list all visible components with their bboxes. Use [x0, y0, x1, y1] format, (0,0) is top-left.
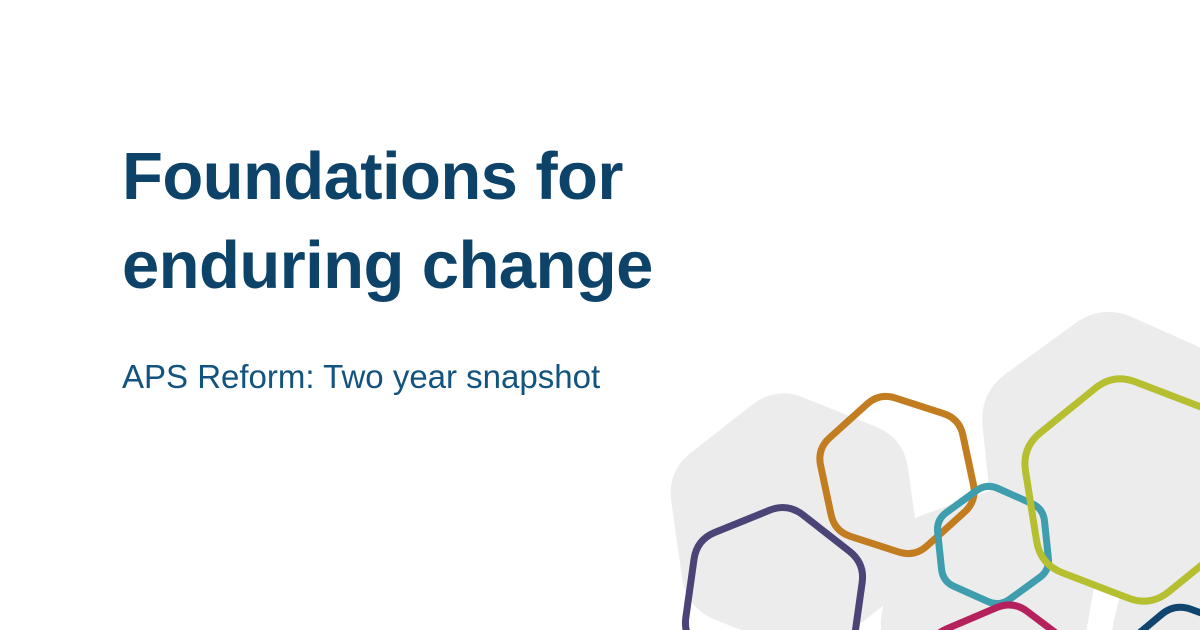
- hex-outline-olive: [1025, 379, 1200, 601]
- gray-hex-left: [671, 393, 920, 630]
- gray-hex-far-right: [1112, 492, 1200, 630]
- page-subtitle: APS Reform: Two year snapshot: [122, 310, 742, 399]
- gray-hex-upper-right: [982, 312, 1200, 598]
- hex-outline-ochre: [820, 396, 974, 553]
- hexagon-backdrop-layer: [671, 312, 1200, 630]
- hex-outline-crimson: [921, 605, 1083, 630]
- gray-hex-center: [881, 490, 1095, 630]
- hex-outline-purple: [685, 508, 862, 630]
- title-block: Foundations for enduring change APS Refo…: [122, 132, 742, 399]
- page-title: Foundations for enduring change: [122, 132, 742, 310]
- slide-canvas: Foundations for enduring change APS Refo…: [0, 0, 1200, 630]
- hexagon-outline-layer: [685, 379, 1200, 630]
- hex-outline-navy: [1110, 607, 1200, 630]
- hex-outline-teal: [938, 486, 1049, 603]
